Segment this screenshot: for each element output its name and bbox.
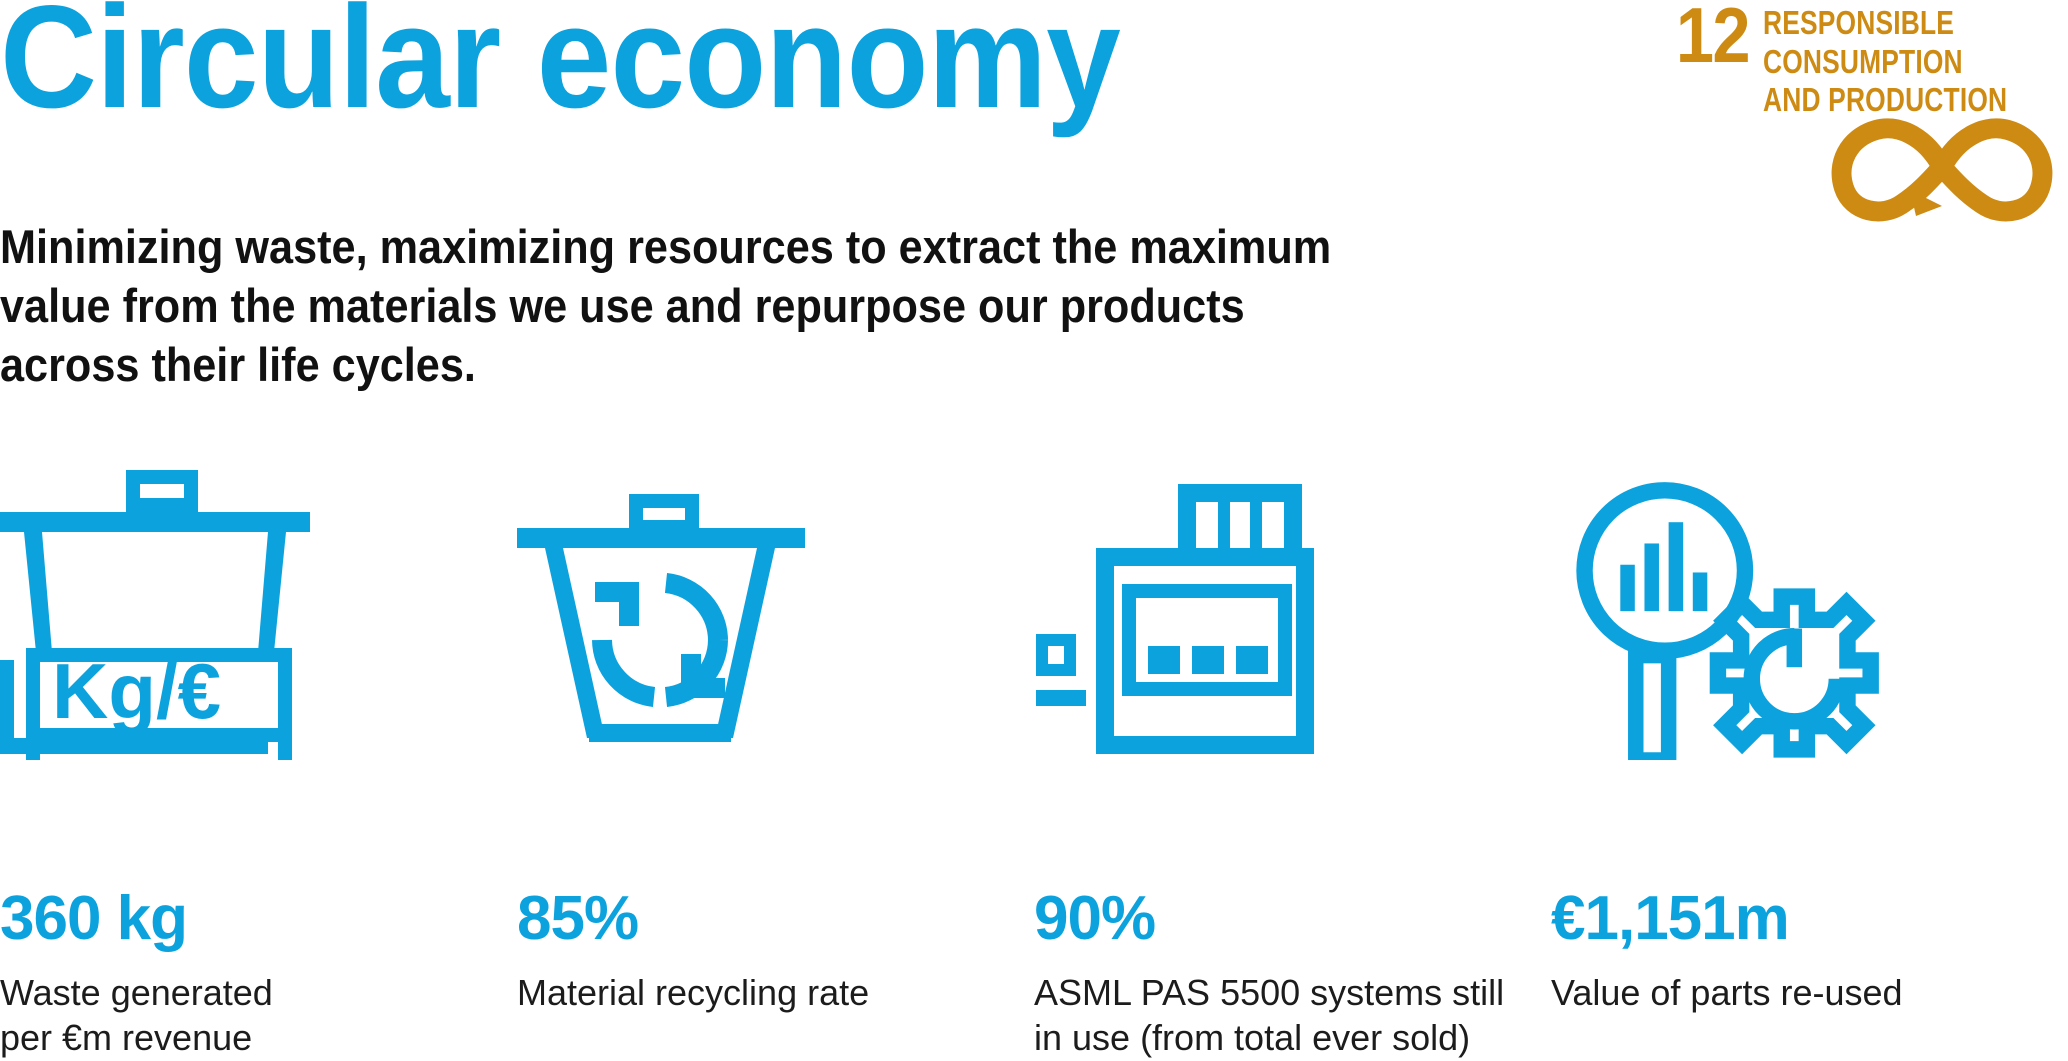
kpi-value: €1,151m bbox=[1551, 888, 1789, 950]
kpi-waste-generated: Kg/€ 360 kg Waste generated per €m reven… bbox=[0, 470, 517, 1046]
infinity-arrow-icon bbox=[1824, 112, 2060, 222]
kpi-caption-line-1: Material recycling rate bbox=[517, 970, 987, 1015]
kpi-value-of-parts-re-used: €1,151m Value of parts re-used bbox=[1551, 470, 2068, 1046]
kpi-caption-line-1: ASML PAS 5500 systems still bbox=[1034, 970, 1504, 1015]
subtitle-line-2: value from the materials we use and repu… bbox=[0, 277, 1306, 336]
kpi-material-recycling-rate: 85% Material recycling rate bbox=[517, 470, 1034, 1046]
kpi-caption: Material recycling rate bbox=[517, 970, 987, 1015]
magnifier-chart-gear-icon bbox=[1551, 470, 1881, 760]
kpi-row: Kg/€ 360 kg Waste generated per €m reven… bbox=[0, 470, 2068, 1046]
sdg-title: RESPONSIBLE CONSUMPTION AND PRODUCTION bbox=[1763, 0, 2007, 120]
subtitle-line-1: Minimizing waste, maximizing resources t… bbox=[0, 218, 1306, 277]
lithography-machine-icon bbox=[1034, 470, 1344, 760]
kpi-pas-5500-systems-in-use: 90% ASML PAS 5500 systems still in use (… bbox=[1034, 470, 1551, 1046]
kpi-caption: ASML PAS 5500 systems still in use (from… bbox=[1034, 970, 1504, 1061]
kpi-caption-line-2: per €m revenue bbox=[0, 1015, 470, 1060]
kpi-caption: Value of parts re-used bbox=[1551, 970, 2021, 1015]
sdg-title-line-2: CONSUMPTION bbox=[1763, 43, 2007, 82]
page-subtitle: Minimizing waste, maximizing resources t… bbox=[0, 218, 1306, 394]
kpi-caption: Waste generated per €m revenue bbox=[0, 970, 470, 1061]
scale-icon-label: Kg/€ bbox=[52, 647, 221, 735]
kpi-value: 360 kg bbox=[0, 888, 187, 950]
weighing-scale-kg-per-euro-icon: Kg/€ bbox=[0, 470, 320, 760]
waste-bin-recycle-icon bbox=[517, 470, 817, 760]
page-title: Circular economy bbox=[0, 0, 1120, 130]
kpi-value: 90% bbox=[1034, 888, 1155, 950]
sdg-number: 12 bbox=[1676, 0, 1749, 69]
subtitle-line-3: across their life cycles. bbox=[0, 336, 1306, 395]
kpi-caption-line-2: in use (from total ever sold) bbox=[1034, 1015, 1504, 1060]
kpi-caption-line-1: Value of parts re-used bbox=[1551, 970, 2021, 1015]
kpi-caption-line-1: Waste generated bbox=[0, 970, 470, 1015]
circular-economy-infographic: Circular economy Minimizing waste, maxim… bbox=[0, 0, 2068, 1046]
sdg-title-line-1: RESPONSIBLE bbox=[1763, 4, 2007, 43]
sdg-badge-heading: 12 RESPONSIBLE CONSUMPTION AND PRODUCTIO… bbox=[1738, 0, 2068, 120]
sdg-badge: 12 RESPONSIBLE CONSUMPTION AND PRODUCTIO… bbox=[1738, 0, 2068, 240]
kpi-value: 85% bbox=[517, 888, 638, 950]
